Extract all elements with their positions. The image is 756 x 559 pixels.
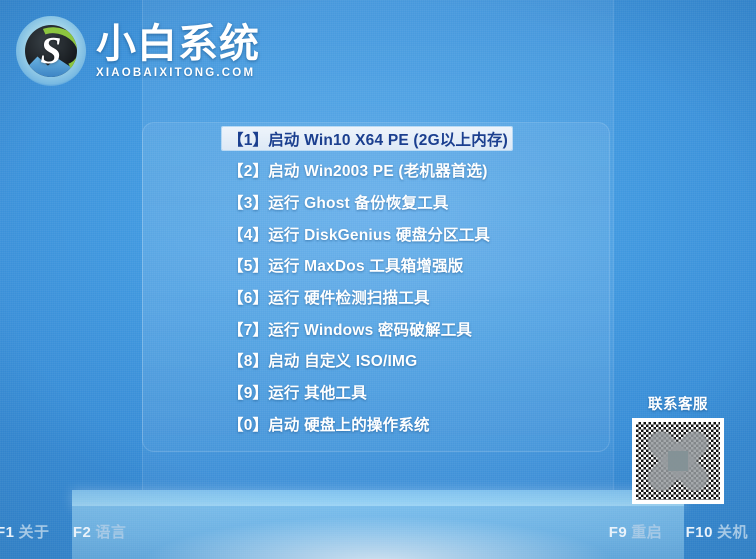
menu-item-7[interactable]: 【7】运行 Windows 密码破解工具 [222, 317, 512, 340]
hint-bar-right: F9重启 F10关机 [609, 521, 748, 542]
qr-code-image [632, 418, 724, 504]
menu-item-8[interactable]: 【8】启动 自定义 ISO/IMG [222, 349, 512, 372]
boot-menu-screen: S 小白系统 XIAOBAIXITONG.COM 【1】启动 Win10 X64… [0, 0, 756, 559]
hint-key-f10[interactable]: F10 [686, 524, 713, 541]
menu-item-2[interactable]: 【2】启动 Win2003 PE (老机器首选) [222, 159, 512, 182]
hint-key-f2[interactable]: F2 [73, 524, 92, 541]
brand-name-cn: 小白系统 [96, 23, 260, 65]
menu-item-0[interactable]: 【0】启动 硬盘上的操作系统 [222, 412, 512, 435]
qr-code-pattern [636, 422, 720, 500]
logo-letter-s: S [25, 25, 77, 77]
menu-item-5[interactable]: 【5】运行 MaxDos 工具箱增强版 [222, 254, 512, 277]
customer-support-block: 联系客服 [628, 393, 728, 504]
logo-mark-icon: S [16, 16, 86, 86]
logo-circle-icon: S [25, 25, 77, 77]
menu-item-1[interactable]: 【1】启动 Win10 X64 PE (2G以上内存) [222, 127, 512, 150]
hint-action-about[interactable]: 关于 [19, 524, 50, 541]
hint-key-f1[interactable]: F1 [0, 524, 15, 541]
hint-action-language[interactable]: 语言 [95, 524, 126, 541]
menu-item-6[interactable]: 【6】运行 硬件检测扫描工具 [222, 285, 512, 308]
customer-support-label: 联系客服 [628, 393, 728, 414]
hint-key-f9[interactable]: F9 [609, 524, 628, 541]
menu-item-9[interactable]: 【9】运行 其他工具 [222, 381, 512, 404]
hint-action-shutdown[interactable]: 关机 [717, 524, 748, 541]
boot-menu-list[interactable]: 【1】启动 Win10 X64 PE (2G以上内存) 【2】启动 Win200… [222, 127, 512, 444]
hint-bar-left: F1关于 F2语言 [0, 521, 126, 542]
background-stage-platform-front [72, 506, 684, 559]
brand-logo: S 小白系统 XIAOBAIXITONG.COM [16, 16, 260, 86]
menu-item-3[interactable]: 【3】运行 Ghost 备份恢复工具 [222, 190, 512, 213]
menu-item-4[interactable]: 【4】运行 DiskGenius 硬盘分区工具 [222, 222, 512, 245]
brand-text: 小白系统 XIAOBAIXITONG.COM [96, 23, 260, 79]
brand-name-en: XIAOBAIXITONG.COM [96, 67, 260, 79]
hint-action-restart[interactable]: 重启 [631, 524, 662, 541]
